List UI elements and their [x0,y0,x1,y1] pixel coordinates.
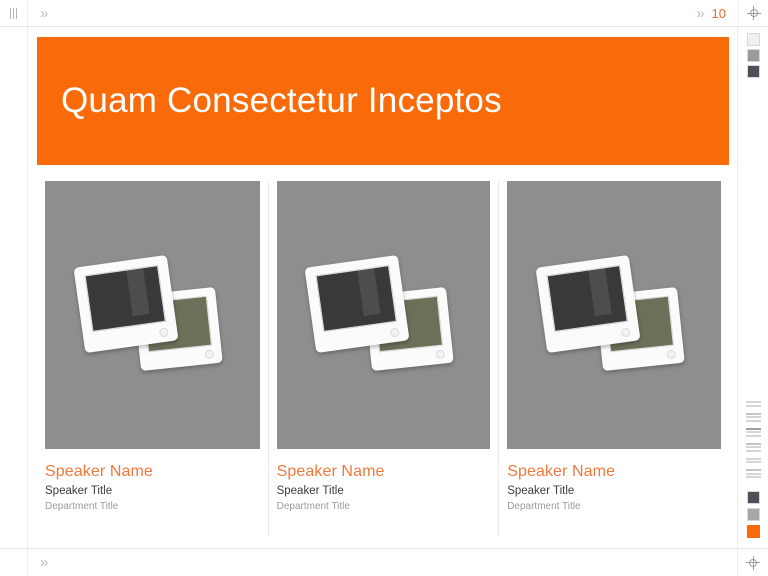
layout-lines-icon-6[interactable] [746,468,761,479]
speaker-department[interactable]: Department Title [45,500,260,514]
speaker-meta: Speaker Name Speaker Title Department Ti… [277,449,491,514]
app-root: » » 10 Quam Consectetur Inceptos [0,0,768,576]
speaker-photo-placeholder[interactable] [507,181,721,449]
crosshair-icon[interactable] [747,6,761,20]
swatch-light[interactable] [747,33,760,46]
crosshair-icon[interactable] [746,556,760,570]
layout-lines-icon-3[interactable] [746,427,761,438]
left-rail-handle[interactable] [0,0,28,27]
title-banner[interactable]: Quam Consectetur Inceptos [37,37,729,165]
layout-and-swatch-group [738,400,768,538]
photo-placeholder-icon [539,259,689,371]
swatch-orange[interactable] [747,525,760,538]
slide-number: 10 [712,6,726,21]
swatch-dark[interactable] [747,491,760,504]
swatch-medium[interactable] [747,49,760,62]
photo-placeholder-icon [308,259,458,371]
speaker-card[interactable]: Speaker Name Speaker Title Department Ti… [268,181,499,536]
speaker-card[interactable]: Speaker Name Speaker Title Department Ti… [498,181,729,536]
speaker-photo-placeholder[interactable] [45,181,260,449]
speaker-name[interactable]: Speaker Name [45,462,260,482]
swatch-dark[interactable] [747,65,760,78]
right-rail[interactable] [737,27,768,548]
top-target-button[interactable] [738,0,768,27]
swatch-gray[interactable] [747,508,760,521]
expand-left-panel-icon[interactable]: » [40,6,46,21]
expand-bottom-panel-icon[interactable]: » [40,555,46,570]
speaker-title[interactable]: Speaker Title [507,483,721,499]
speaker-card-row: Speaker Name Speaker Title Department Ti… [37,181,729,536]
slide-canvas[interactable]: Quam Consectetur Inceptos Speaker Name S… [29,28,737,548]
expand-right-panel-icon[interactable]: » [696,6,702,21]
speaker-title[interactable]: Speaker Title [277,483,491,499]
speaker-meta: Speaker Name Speaker Title Department Ti… [45,449,260,514]
layout-lines-icon-4[interactable] [746,442,761,453]
speaker-card[interactable]: Speaker Name Speaker Title Department Ti… [37,181,268,536]
layout-lines-icon-1[interactable] [746,400,761,408]
speaker-meta: Speaker Name Speaker Title Department Ti… [507,449,721,514]
bottom-toolbar: » [0,548,768,576]
speaker-name[interactable]: Speaker Name [507,462,721,482]
layout-lines-icon-5[interactable] [746,457,761,465]
grip-handle-icon[interactable] [10,8,18,19]
speaker-department[interactable]: Department Title [507,500,721,514]
speaker-department[interactable]: Department Title [277,500,491,514]
bottom-target-button[interactable] [737,549,768,576]
top-toolbar: » » 10 [0,0,768,27]
photo-placeholder-icon [77,259,227,371]
speaker-photo-placeholder[interactable] [277,181,491,449]
speaker-name[interactable]: Speaker Name [277,462,491,482]
theme-swatch-group-top [738,33,768,78]
layout-lines-icon-2[interactable] [746,412,761,423]
left-rail[interactable] [0,27,28,548]
speaker-title[interactable]: Speaker Title [45,483,260,499]
bottom-left-rail [0,549,28,576]
slide-title: Quam Consectetur Inceptos [61,81,502,121]
